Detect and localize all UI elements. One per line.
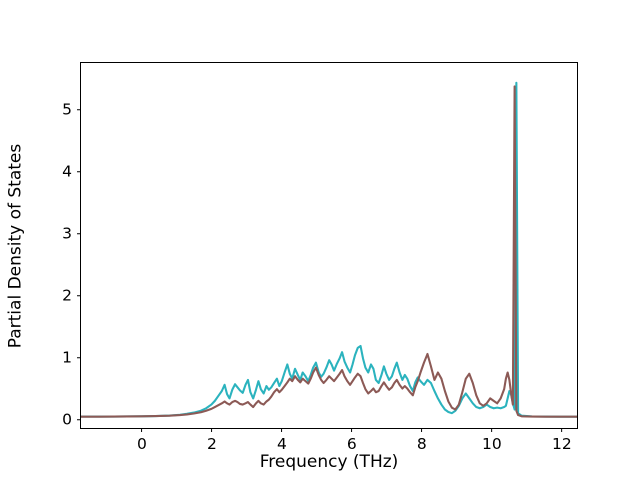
- y-axis-tick-label: 5: [62, 101, 77, 119]
- x-axis-label-text: Frequency (THz): [260, 452, 399, 472]
- y-axis-tick: 3: [62, 223, 81, 243]
- y-axis-tick: 1: [62, 347, 81, 367]
- y-axis-tick-label: 0: [62, 411, 77, 429]
- x-axis-tick-mark: [491, 428, 492, 432]
- y-axis-label-text: Partial Density of States: [5, 143, 25, 348]
- x-axis-tick-label: 12: [552, 435, 572, 453]
- y-axis-label: Partial Density of States: [0, 62, 30, 429]
- curve-series_2: [81, 86, 577, 416]
- x-axis-tick-mark: [561, 428, 562, 432]
- y-axis-tick-label: 4: [62, 163, 77, 181]
- x-axis-tick: 8: [417, 428, 427, 453]
- y-axis-tick: 5: [62, 99, 81, 119]
- x-axis-tick: 0: [137, 428, 147, 453]
- x-axis-tick: 12: [552, 428, 572, 453]
- data-curves: [81, 63, 577, 428]
- curve-series_1: [81, 83, 577, 417]
- x-axis-tick: 2: [207, 428, 217, 453]
- y-axis-tick-label: 1: [62, 349, 77, 367]
- x-axis-tick-mark: [211, 428, 212, 432]
- x-axis-tick-mark: [351, 428, 352, 432]
- x-axis-tick: 6: [347, 428, 357, 453]
- x-axis-tick: 4: [277, 428, 287, 453]
- figure-canvas: Partial Density of States 01234502468101…: [0, 0, 640, 480]
- x-axis-tick: 10: [482, 428, 502, 453]
- x-axis-label: Frequency (THz): [80, 452, 578, 472]
- x-axis-tick-mark: [421, 428, 422, 432]
- x-axis-tick-mark: [281, 428, 282, 432]
- x-axis-tick-label: 8: [417, 435, 427, 453]
- y-axis-tick-mark: [77, 171, 81, 172]
- y-axis-tick-label: 2: [62, 287, 77, 305]
- x-axis-tick-label: 10: [482, 435, 502, 453]
- y-axis-tick-mark: [77, 419, 81, 420]
- y-axis-tick: 2: [62, 285, 81, 305]
- x-axis-tick-mark: [141, 428, 142, 432]
- y-axis-tick: 4: [62, 161, 81, 181]
- x-axis-tick-label: 6: [347, 435, 357, 453]
- x-axis-tick-label: 4: [277, 435, 287, 453]
- y-axis-tick: 0: [62, 409, 81, 429]
- y-axis-tick-label: 3: [62, 225, 77, 243]
- y-axis-tick-mark: [77, 233, 81, 234]
- x-axis-tick-label: 2: [207, 435, 217, 453]
- y-axis-tick-mark: [77, 109, 81, 110]
- plot-area: 012345024681012: [80, 62, 578, 429]
- x-axis-tick-label: 0: [137, 435, 147, 453]
- y-axis-tick-mark: [77, 357, 81, 358]
- y-axis-tick-mark: [77, 295, 81, 296]
